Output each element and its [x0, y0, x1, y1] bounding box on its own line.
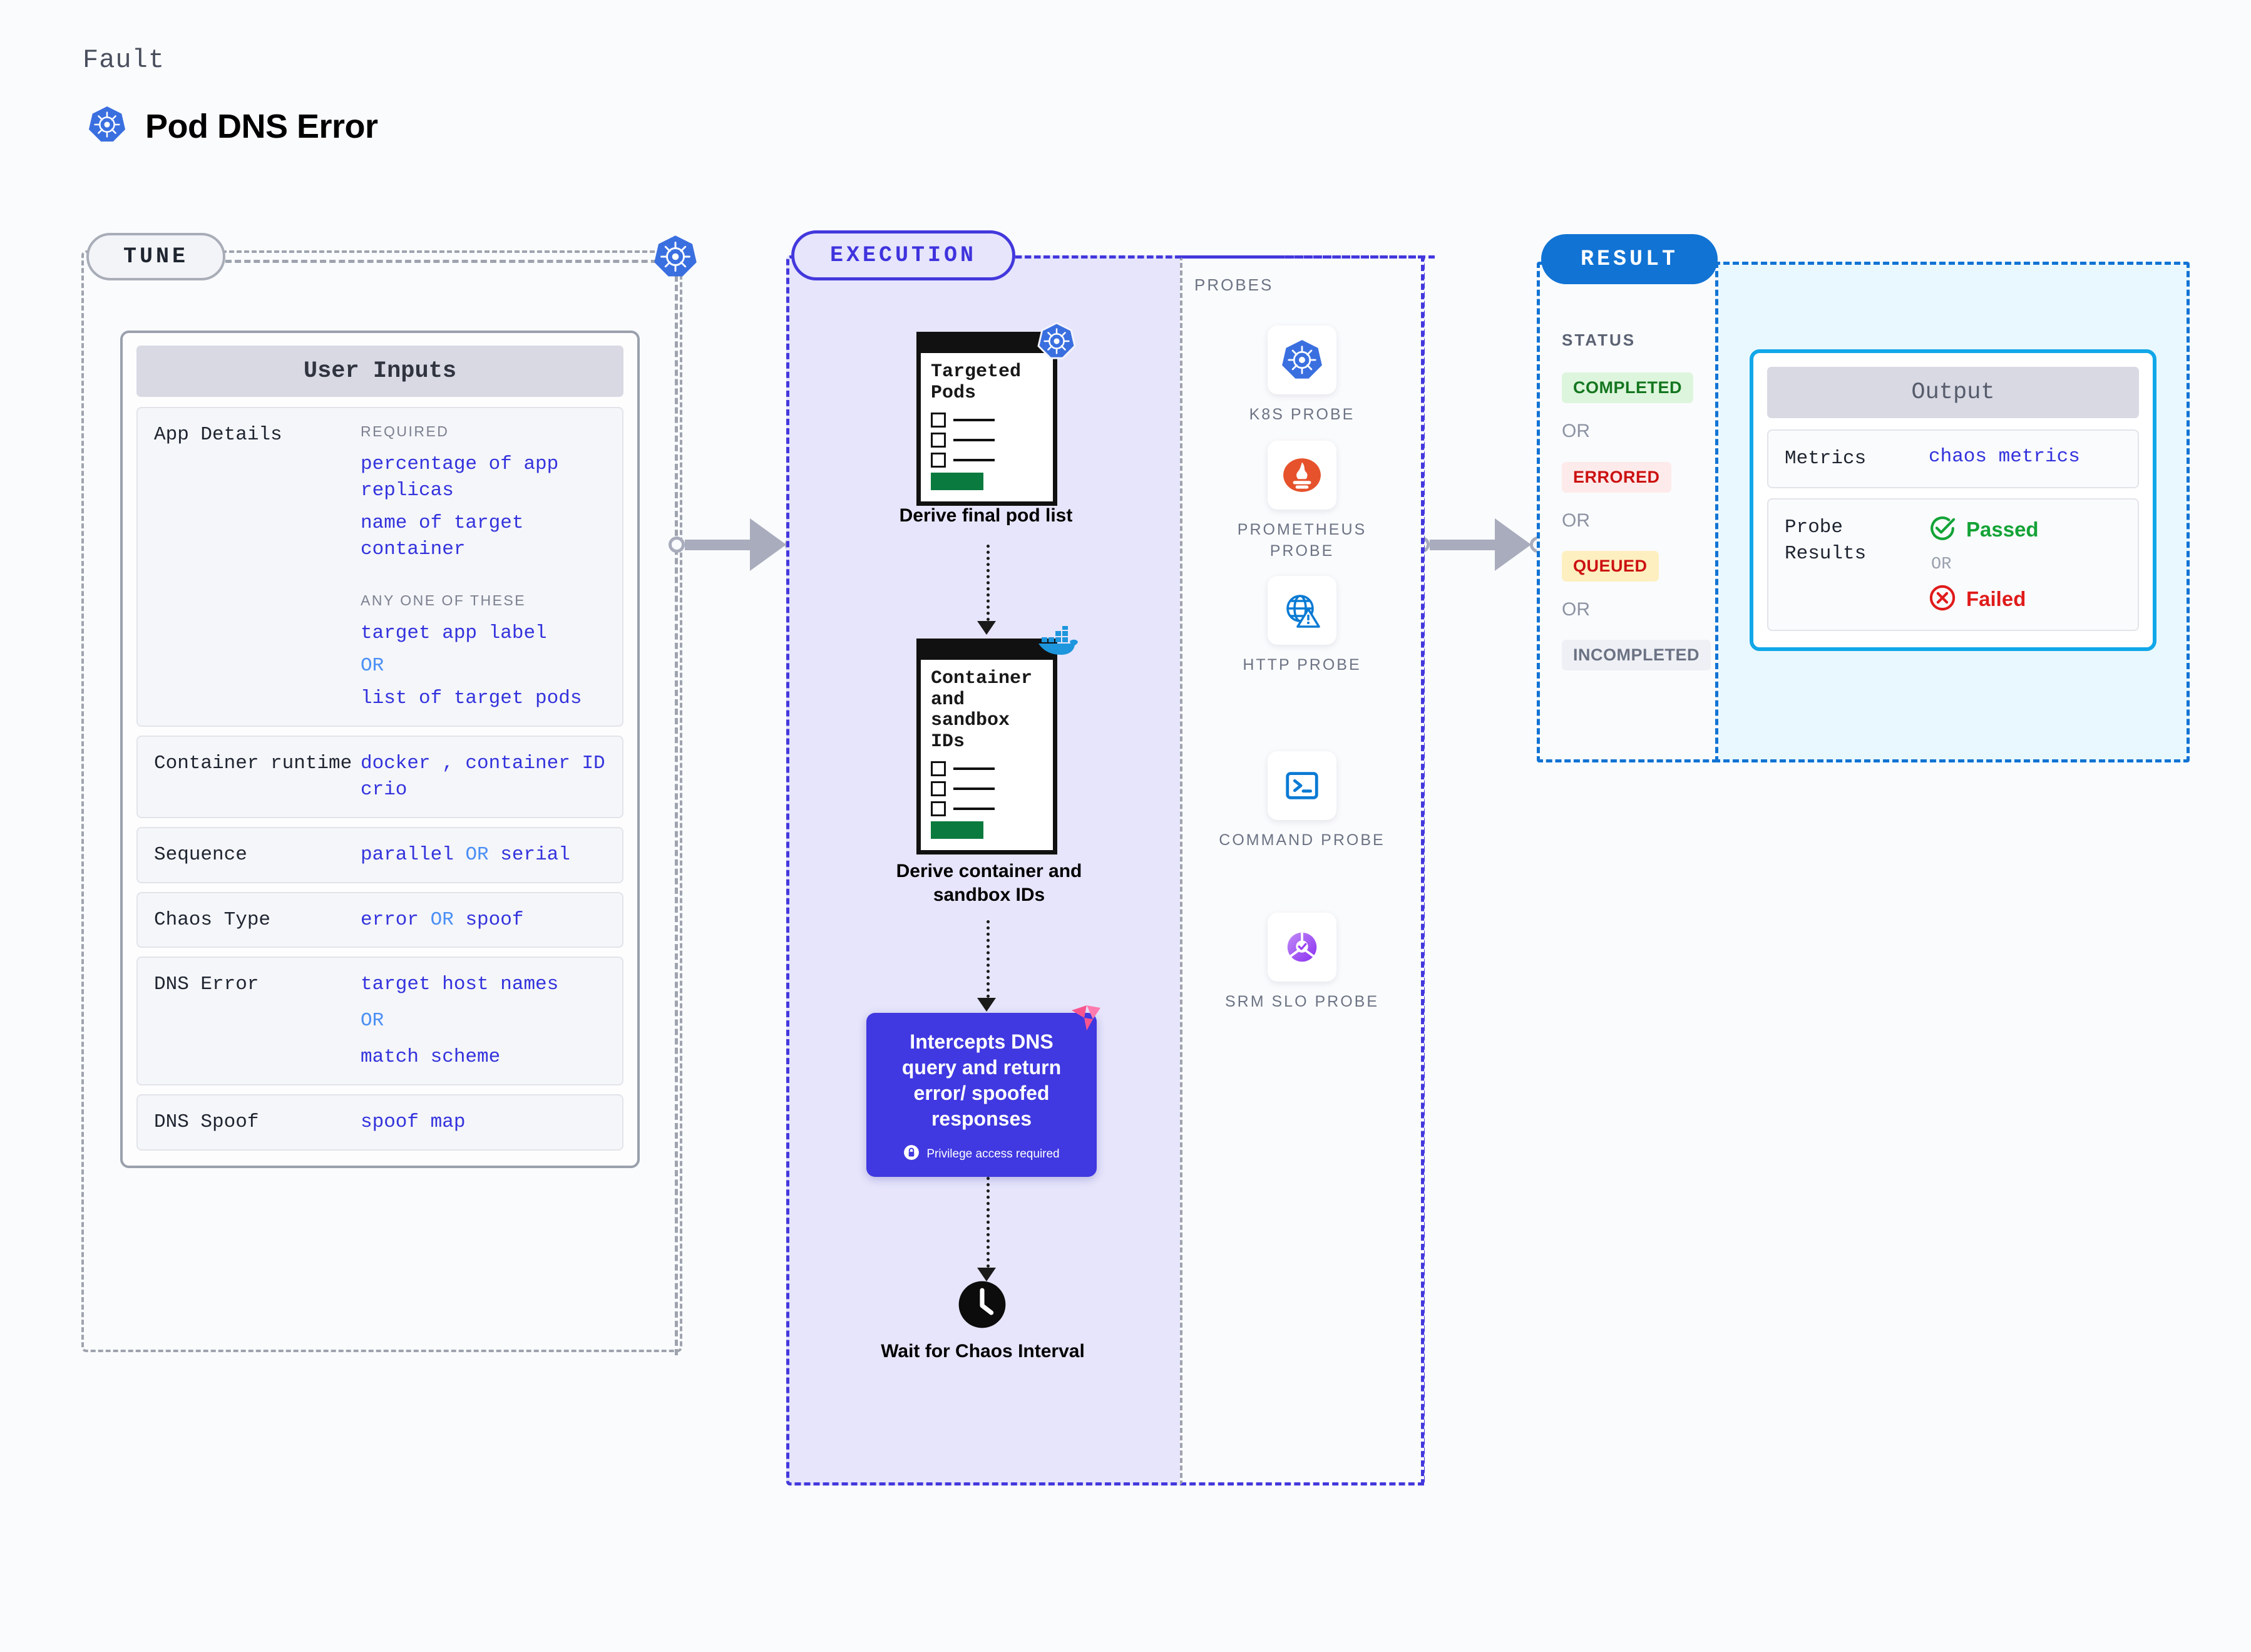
connector-shaft	[1430, 540, 1497, 550]
checkbox-glyph	[931, 801, 946, 816]
input-value: match scheme	[361, 1044, 606, 1070]
probe-http[interactable]: HTTP PROBE	[1208, 576, 1396, 676]
input-value: error	[361, 909, 419, 931]
input-value: spoof	[465, 909, 523, 931]
checkbox-glyph	[931, 781, 946, 796]
output-value: chaos metrics	[1929, 446, 2121, 472]
output-key: Probe Results	[1785, 515, 1929, 615]
output-card: Output Metrics chaos metrics Probe Resul…	[1750, 349, 2156, 651]
intercept-dns-node: Intercepts DNS query and return error/ s…	[866, 1013, 1097, 1177]
status-or: OR	[1562, 510, 1590, 531]
line-glyph	[953, 767, 995, 770]
input-value: spoof map	[361, 1111, 465, 1133]
x-circle-icon	[1929, 584, 1956, 615]
container-sandbox-doc: Container and sandbox IDs	[916, 639, 1057, 854]
line-glyph	[953, 459, 995, 461]
probes-panel	[1180, 255, 1424, 1485]
input-value: serial	[500, 844, 570, 866]
probe-passed-label: Passed	[1966, 518, 2039, 541]
checkbox-glyph	[931, 453, 946, 468]
privilege-text: Privilege access required	[926, 1147, 1059, 1161]
checkbox-glyph	[931, 413, 946, 428]
status-badge-queued: QUEUED	[1562, 551, 1659, 582]
input-key: DNS Error	[154, 972, 361, 1070]
srm-slo-icon	[1268, 913, 1336, 982]
input-value: docker , container ID	[361, 751, 606, 777]
input-row-sequence: Sequence parallel OR serial	[136, 827, 623, 883]
probe-label: PROMETHEUS PROBE	[1208, 520, 1396, 562]
input-caption-required: REQUIRED	[361, 422, 606, 441]
connector-shaft	[685, 540, 752, 550]
probe-result-or: OR	[1931, 555, 2121, 574]
flow-arrowhead	[977, 1268, 996, 1281]
input-or: OR	[465, 844, 488, 866]
input-value: crio	[361, 777, 606, 803]
privilege-note: Privilege access required	[881, 1144, 1082, 1164]
node-caption-derive-pod-list: Derive final pod list	[876, 504, 1095, 528]
probe-label: K8S PROBE	[1208, 404, 1396, 426]
connector-arrowhead	[750, 518, 786, 571]
doc-title: Targeted Pods	[931, 362, 1043, 404]
input-value: parallel	[361, 844, 454, 866]
input-key: Sequence	[154, 842, 361, 868]
status-badge-errored: ERRORED	[1562, 462, 1671, 493]
input-row-chaos-type: Chaos Type error OR spoof	[136, 892, 623, 948]
input-or: OR	[361, 653, 606, 679]
output-key: Metrics	[1785, 446, 1929, 472]
check-circle-icon	[1929, 515, 1956, 545]
input-value: list of target pods	[361, 685, 606, 712]
input-value: target host names	[361, 972, 606, 998]
page-title: Pod DNS Error	[145, 107, 378, 146]
input-key: DNS Spoof	[154, 1109, 361, 1136]
flow-arrowhead	[977, 621, 996, 635]
node-caption-derive-container-ids: Derive container and sandbox IDs	[876, 859, 1102, 906]
input-key: Chaos Type	[154, 907, 361, 933]
kubernetes-icon	[1037, 322, 1076, 364]
lock-icon	[903, 1144, 920, 1164]
output-title: Output	[1767, 367, 2139, 418]
input-key: App Details	[154, 422, 361, 712]
probe-failed-label: Failed	[1966, 587, 2026, 611]
checkbox-glyph	[931, 761, 946, 776]
globe-warning-icon	[1268, 576, 1336, 645]
input-value: percentage of app replicas	[361, 451, 606, 504]
tune-connector-line	[225, 260, 676, 263]
node-caption-wait-chaos-interval: Wait for Chaos Interval	[870, 1340, 1095, 1363]
clock-icon	[958, 1280, 1007, 1329]
terminal-icon	[1268, 751, 1336, 820]
connector-execution-to-result	[1413, 518, 1546, 571]
status-or: OR	[1562, 599, 1590, 620]
input-value: target app label	[361, 620, 606, 647]
probes-label: PROBES	[1194, 275, 1273, 295]
line-glyph	[953, 439, 995, 441]
user-inputs-title: User Inputs	[136, 346, 623, 397]
probe-label: HTTP PROBE	[1208, 655, 1396, 676]
connector-arrowhead	[1495, 518, 1531, 571]
prometheus-icon	[1268, 441, 1336, 510]
input-value: name of target container	[361, 510, 606, 563]
tune-right-boundary	[675, 275, 678, 1355]
probe-k8s[interactable]: K8S PROBE	[1208, 326, 1396, 426]
execution-connector-line	[1015, 255, 1435, 259]
status-label: STATUS	[1562, 331, 1636, 350]
flow-line	[987, 1177, 990, 1268]
output-row-probe-results: Probe Results Passed OR	[1767, 498, 2139, 631]
kubernetes-icon	[653, 234, 698, 279]
stage-label-tune: TUNE	[86, 233, 225, 280]
probe-label: COMMAND PROBE	[1208, 830, 1396, 851]
status-badge-incompleted: INCOMPLETED	[1562, 640, 1711, 670]
intercept-text: Intercepts DNS query and return error/ s…	[881, 1029, 1082, 1132]
probe-result-failed: Failed	[1929, 584, 2121, 615]
checkbox-glyph	[931, 433, 946, 448]
probe-srm-slo[interactable]: SRM SLO PROBE	[1208, 913, 1396, 1013]
progress-bar-glyph	[931, 473, 983, 490]
docker-icon	[1037, 626, 1079, 662]
line-glyph	[953, 419, 995, 421]
input-row-dns-spoof: DNS Spoof spoof map	[136, 1094, 623, 1151]
kubernetes-icon	[1268, 326, 1336, 394]
input-or: OR	[361, 1008, 606, 1034]
container-sandbox-card: Container and sandbox IDs	[916, 639, 1057, 854]
flow-line	[987, 920, 990, 998]
page-title-row: Pod DNS Error	[88, 105, 378, 147]
status-or: OR	[1562, 421, 1590, 442]
input-caption-anyone: ANY ONE OF THESE	[361, 591, 606, 610]
line-glyph	[953, 808, 995, 810]
input-row-dns-error: DNS Error target host names OR match sch…	[136, 957, 623, 1085]
input-row-container-runtime: Container runtime docker , container ID …	[136, 736, 623, 818]
connector-dot	[669, 536, 685, 553]
line-glyph	[953, 788, 995, 790]
user-inputs-card: User Inputs App Details REQUIRED percent…	[120, 331, 640, 1168]
probe-result-passed: Passed	[1929, 515, 2121, 545]
targeted-pods-doc: Targeted Pods	[916, 332, 1057, 506]
probe-prometheus[interactable]: PROMETHEUS PROBE	[1208, 441, 1396, 562]
stage-label-execution: EXECUTION	[791, 230, 1015, 280]
input-key: Container runtime	[154, 751, 361, 803]
output-row-metrics: Metrics chaos metrics	[1767, 429, 2139, 488]
targeted-pods-card: Targeted Pods	[916, 332, 1057, 506]
kubernetes-icon	[88, 105, 126, 147]
input-or: OR	[431, 909, 454, 931]
probe-label: SRM SLO PROBE	[1208, 992, 1396, 1013]
connector-tune-to-execution	[669, 518, 801, 571]
fault-kicker: Fault	[83, 45, 165, 75]
status-badge-completed: COMPLETED	[1562, 372, 1693, 403]
flow-line	[987, 545, 990, 621]
progress-bar-glyph	[931, 821, 983, 839]
litmus-icon	[1068, 1004, 1102, 1037]
probe-command[interactable]: COMMAND PROBE	[1208, 751, 1396, 851]
input-row-app-details: App Details REQUIRED percentage of app r…	[136, 407, 623, 727]
doc-title: Container and sandbox IDs	[931, 669, 1043, 752]
stage-label-result: RESULT	[1541, 234, 1718, 284]
flow-arrowhead	[977, 998, 996, 1012]
